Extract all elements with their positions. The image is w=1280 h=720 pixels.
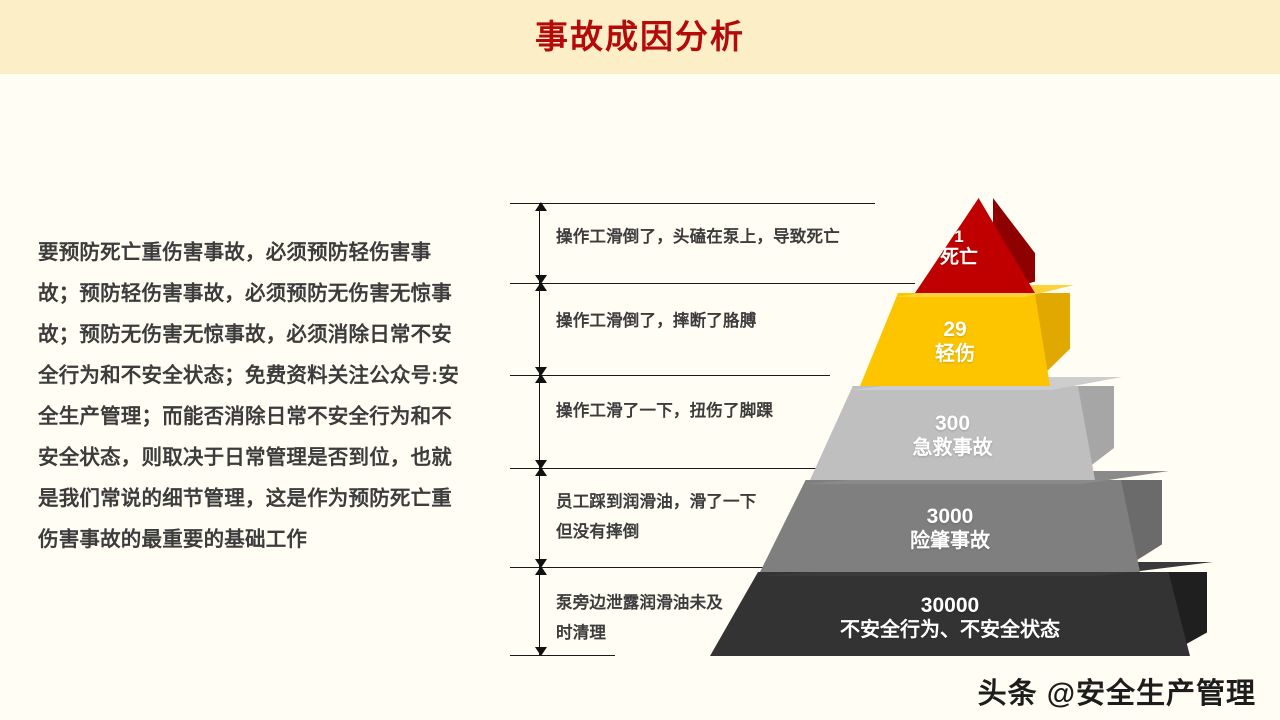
pyramid-level-1-count: 1 <box>915 227 1003 247</box>
arrow-head-down-icon <box>535 647 547 656</box>
arrow-head-down-icon <box>535 367 547 376</box>
pyramid-level-3000: 3000 险肇事故 <box>760 480 1140 572</box>
arrow-head-up-icon <box>535 202 547 211</box>
arrow-head-up-icon <box>535 467 547 476</box>
span-arrow-1 <box>539 203 540 283</box>
description-paragraph: 要预防死亡重伤害事故，必须预防轻伤害事故；预防轻伤害事故，必须预防无伤害无惊事故… <box>38 232 468 560</box>
pyramid-level-1-name: 死亡 <box>915 247 1003 269</box>
pyramid-level-300-count: 300 <box>810 412 1095 437</box>
pyramid-level-300: 300 急救事故 <box>810 386 1095 480</box>
pyramid-level-30000-count: 30000 <box>710 594 1190 619</box>
pyramid-level-1-label: 1 死亡 <box>915 227 1003 269</box>
span-arrow-3 <box>539 375 540 468</box>
pyramid-level-30000-label: 30000 不安全行为、不安全状态 <box>710 594 1190 642</box>
pyramid-level-3000-count: 3000 <box>760 505 1140 530</box>
pyramid-level-29: 29 轻伤 <box>860 293 1050 386</box>
pyramid-level-29-count: 29 <box>860 318 1050 343</box>
arrow-head-down-icon <box>535 460 547 469</box>
pyramid-level-30000-name: 不安全行为、不安全状态 <box>710 619 1190 643</box>
arrow-head-up-icon <box>535 282 547 291</box>
pyramid-level-3000-name: 险肇事故 <box>760 530 1140 554</box>
span-arrow-4 <box>539 468 540 567</box>
arrow-head-down-icon <box>535 275 547 284</box>
arrow-head-down-icon <box>535 559 547 568</box>
pyramid-level-1: 1 死亡 <box>915 198 1035 293</box>
pyramid-level-29-name: 轻伤 <box>860 343 1050 367</box>
arrow-head-up-icon <box>535 374 547 383</box>
rule-line-6 <box>510 655 615 656</box>
pyramid-level-300-name: 急救事故 <box>810 437 1095 461</box>
accident-pyramid-chart: 30000 不安全行为、不安全状态 3000 险肇事故 300 急救事故 29 … <box>700 180 1220 660</box>
pyramid-level-29-label: 29 轻伤 <box>860 318 1050 366</box>
pyramid-level-3000-label: 3000 险肇事故 <box>760 505 1140 553</box>
callout-text-5: 泵旁边泄露润滑油未及 时清理 <box>556 588 723 648</box>
pyramid-level-300-label: 300 急救事故 <box>810 412 1095 460</box>
arrow-head-up-icon <box>535 566 547 575</box>
page-title: 事故成因分析 <box>535 20 745 53</box>
pyramid-level-30000: 30000 不安全行为、不安全状态 <box>710 572 1190 656</box>
title-banner: 事故成因分析 <box>0 0 1280 74</box>
watermark-text: 头条 @安全生产管理 <box>978 670 1256 712</box>
span-arrow-2 <box>539 283 540 375</box>
span-arrow-5 <box>539 567 540 655</box>
